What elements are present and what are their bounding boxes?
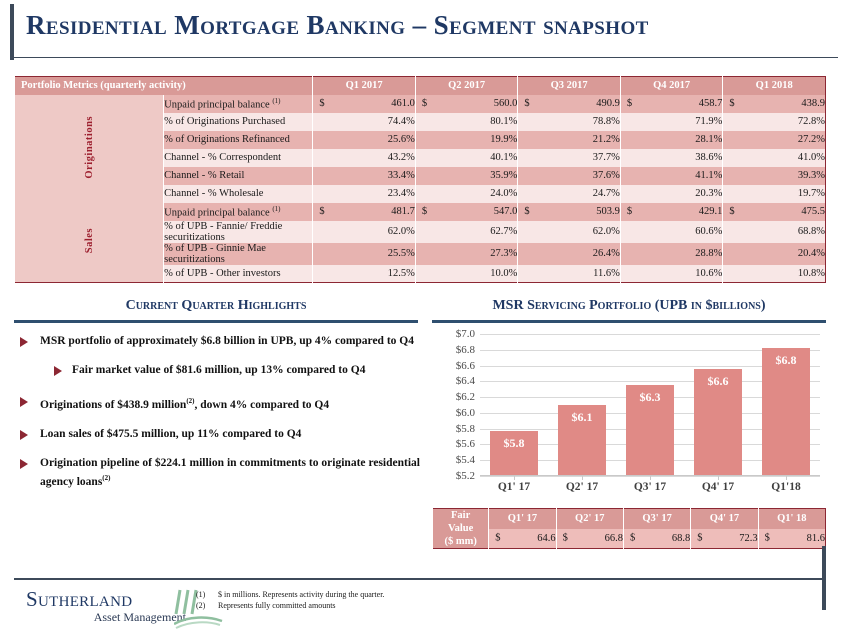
currency-symbol: $ xyxy=(495,533,500,544)
currency-symbol: $ xyxy=(319,206,324,217)
group-label-originations: Originations xyxy=(15,95,164,203)
metric-value: 33.4% xyxy=(313,167,416,185)
title-bar: Residential Mortgage Banking – Segment s… xyxy=(0,0,841,62)
chart-bar: $6.3 xyxy=(626,385,674,476)
currency-symbol: $ xyxy=(422,206,427,217)
fair-value-cell: $81.6 xyxy=(758,529,825,549)
y-axis-tick-label: $6.4 xyxy=(431,375,475,387)
metric-value: 19.7% xyxy=(723,185,826,203)
bar-value-label: $6.8 xyxy=(776,353,797,368)
chart-bar-slot: $6.6Q4' 17 xyxy=(684,334,752,476)
currency-symbol: $ xyxy=(729,206,734,217)
highlights-heading: Current Quarter Highlights xyxy=(14,298,418,314)
metric-value: 62.0% xyxy=(518,221,621,243)
column-header-5: Q1 2018 xyxy=(723,77,826,95)
column-header-1: Q1 2017 xyxy=(313,77,416,95)
fair-value-column-header-1: Q1' 17 xyxy=(489,509,556,529)
y-axis-tick-label: $5.8 xyxy=(431,423,475,435)
highlight-text: Loan sales of $475.5 million, up 11% com… xyxy=(40,428,301,440)
metric-value: 11.6% xyxy=(518,265,621,283)
metric-value: 25.5% xyxy=(313,243,416,265)
currency-symbol: $ xyxy=(627,206,632,217)
metric-value: $490.9 xyxy=(518,95,621,113)
metric-value: $503.9 xyxy=(518,203,621,221)
fair-value-column-header-3: Q3' 17 xyxy=(623,509,690,529)
chart-x-axis xyxy=(480,475,820,476)
metric-value: 62.7% xyxy=(415,221,518,243)
metric-value: $429.1 xyxy=(620,203,723,221)
x-axis-tick-label: Q1'18 xyxy=(771,481,800,493)
metric-value: 80.1% xyxy=(415,113,518,131)
column-header-3: Q3 2017 xyxy=(518,77,621,95)
metric-value: 40.1% xyxy=(415,149,518,167)
chart-bar: $6.6 xyxy=(694,369,742,476)
company-logo: Sutherland Asset Management xyxy=(26,588,216,624)
metric-value: 41.0% xyxy=(723,149,826,167)
page-title: Residential Mortgage Banking – Segment s… xyxy=(26,10,649,41)
metric-value: $438.9 xyxy=(723,95,826,113)
currency-symbol: $ xyxy=(697,533,702,544)
footnote-text: $ in millions. Represents activity durin… xyxy=(218,589,384,600)
metric-value: 20.3% xyxy=(620,185,723,203)
x-axis-tick-label: Q1' 17 xyxy=(498,481,530,493)
metric-value: 25.6% xyxy=(313,131,416,149)
bar-value-label: $6.6 xyxy=(708,374,729,389)
y-axis-tick-label: $5.4 xyxy=(431,454,475,466)
y-axis-tick-label: $6.2 xyxy=(431,391,475,403)
metrics-table-caption: Portfolio Metrics (quarterly activity) xyxy=(15,77,313,95)
metric-value: 28.8% xyxy=(620,243,723,265)
metric-value: $458.7 xyxy=(620,95,723,113)
currency-symbol: $ xyxy=(630,533,635,544)
y-axis-tick-label: $6.6 xyxy=(431,360,475,372)
footnote-marker: (2) xyxy=(186,397,194,405)
triangle-bullet-icon xyxy=(20,430,28,440)
fair-value-header-row: FairValue($ mm)Q1' 17Q2' 17Q3' 17Q4' 17Q… xyxy=(433,509,826,529)
metric-value: $475.5 xyxy=(723,203,826,221)
metric-value: 38.6% xyxy=(620,149,723,167)
triangle-bullet-icon xyxy=(20,337,28,347)
highlight-text: Originations of $438.9 million xyxy=(40,399,186,411)
metric-value: 10.0% xyxy=(415,265,518,283)
chart-plot-area: $5.2$5.4$5.6$5.8$6.0$6.2$6.4$6.6$6.8$7.0… xyxy=(480,334,820,476)
bar-value-label: $6.3 xyxy=(640,390,661,405)
metric-value: 27.3% xyxy=(415,243,518,265)
metric-value: 21.2% xyxy=(518,131,621,149)
highlight-text: Fair market value of $81.6 million, up 1… xyxy=(72,364,365,376)
metric-value: 19.9% xyxy=(415,131,518,149)
metric-value: 43.2% xyxy=(313,149,416,167)
x-axis-tick xyxy=(582,476,583,480)
metric-label: % of UPB - Ginnie Mae securitizations xyxy=(164,243,313,265)
bar-value-label: $6.1 xyxy=(572,410,593,425)
chart-bar: $6.8 xyxy=(762,348,810,476)
table-row: OriginationsUnpaid principal balance (1)… xyxy=(15,95,826,113)
metric-label: % of UPB - Fannie/ Freddie securitizatio… xyxy=(164,221,313,243)
metric-label: % of Originations Refinanced xyxy=(164,131,313,149)
metric-label: % of Originations Purchased xyxy=(164,113,313,131)
metric-label: Channel - % Wholesale xyxy=(164,185,313,203)
fair-value-cell: $68.8 xyxy=(623,529,690,549)
currency-symbol: $ xyxy=(765,533,770,544)
x-axis-tick xyxy=(786,476,787,480)
metric-label: Unpaid principal balance (1) xyxy=(164,95,313,113)
footnote-text: Represents fully committed amounts xyxy=(218,600,336,611)
triangle-bullet-icon xyxy=(54,366,62,376)
chart-bar-slot: $6.1Q2' 17 xyxy=(548,334,616,476)
triangle-bullet-icon xyxy=(20,397,28,407)
metric-value: 23.4% xyxy=(313,185,416,203)
chart-bar-slot: $6.3Q3' 17 xyxy=(616,334,684,476)
fair-value-column-header-2: Q2' 17 xyxy=(556,509,623,529)
msr-heading: MSR Servicing Portfolio (UPB in $billion… xyxy=(432,298,826,314)
highlights-list: MSR portfolio of approximately $6.8 bill… xyxy=(16,334,420,504)
footnotes: (1)$ in millions. Represents activity du… xyxy=(196,589,596,611)
metric-value: $481.7 xyxy=(313,203,416,221)
metric-value: 74.4% xyxy=(313,113,416,131)
fair-value-table: FairValue($ mm)Q1' 17Q2' 17Q3' 17Q4' 17Q… xyxy=(432,508,826,549)
chart-bars: $5.8Q1' 17$6.1Q2' 17$6.3Q3' 17$6.6Q4' 17… xyxy=(480,334,820,476)
footnote-marker: (1) xyxy=(272,97,280,105)
chart-bar: $6.1 xyxy=(558,405,606,476)
chart-bar-slot: $6.8Q1'18 xyxy=(752,334,820,476)
highlight-bullet: MSR portfolio of approximately $6.8 bill… xyxy=(16,334,420,349)
metric-value: 28.1% xyxy=(620,131,723,149)
metric-value: 37.7% xyxy=(518,149,621,167)
metric-value: $461.0 xyxy=(313,95,416,113)
x-axis-tick xyxy=(718,476,719,480)
chart-bar: $5.8 xyxy=(490,431,538,476)
fair-value-value-row: $64.6$66.8$68.8$72.3$81.6 xyxy=(433,529,826,549)
logo-tagline: Asset Management xyxy=(26,610,186,624)
x-axis-tick xyxy=(514,476,515,480)
footer-accent-bar xyxy=(822,546,826,610)
highlight-bullet: Loan sales of $475.5 million, up 11% com… xyxy=(16,427,420,442)
footnote-marker: (2) xyxy=(102,474,110,482)
title-divider xyxy=(10,57,838,58)
y-axis-tick-label: $5.2 xyxy=(431,470,475,482)
x-axis-tick-label: Q4' 17 xyxy=(702,481,734,493)
fair-value-label-line: Fair xyxy=(433,509,488,522)
metric-value: $547.0 xyxy=(415,203,518,221)
metric-value: 10.8% xyxy=(723,265,826,283)
highlight-text: MSR portfolio of approximately $6.8 bill… xyxy=(40,335,414,347)
metric-value: 24.7% xyxy=(518,185,621,203)
footnote-row: (1)$ in millions. Represents activity du… xyxy=(196,589,596,600)
metric-value: $560.0 xyxy=(415,95,518,113)
triangle-bullet-icon xyxy=(20,459,28,469)
footnote-row: (2)Represents fully committed amounts xyxy=(196,600,596,611)
y-axis-tick-label: $7.0 xyxy=(431,328,475,340)
footer-divider xyxy=(14,578,826,580)
metric-value: 78.8% xyxy=(518,113,621,131)
chart-bar-slot: $5.8Q1' 17 xyxy=(480,334,548,476)
x-axis-tick-label: Q3' 17 xyxy=(634,481,666,493)
metric-label: Channel - % Correspondent xyxy=(164,149,313,167)
fair-value-column-header-4: Q4' 17 xyxy=(691,509,758,529)
metric-value: 62.0% xyxy=(313,221,416,243)
currency-symbol: $ xyxy=(563,533,568,544)
highlights-heading-rule xyxy=(14,320,418,323)
metric-value: 12.5% xyxy=(313,265,416,283)
group-label-sales: Sales xyxy=(15,203,164,283)
highlight-bullet: Origination pipeline of $224.1 million i… xyxy=(16,456,420,490)
metric-value: 68.8% xyxy=(723,221,826,243)
fair-value-cell: $72.3 xyxy=(691,529,758,549)
msr-heading-rule xyxy=(432,320,826,323)
highlight-text-tail: , down 4% compared to Q4 xyxy=(195,399,330,411)
msr-servicing-portfolio-chart: $5.2$5.4$5.6$5.8$6.0$6.2$6.4$6.6$6.8$7.0… xyxy=(432,330,826,502)
metric-value: 24.0% xyxy=(415,185,518,203)
currency-symbol: $ xyxy=(422,98,427,109)
y-axis-tick-label: $6.0 xyxy=(431,407,475,419)
fair-value-label-line: Value xyxy=(433,522,488,535)
y-axis-tick-label: $5.6 xyxy=(431,438,475,450)
highlight-bullet: Fair market value of $81.6 million, up 1… xyxy=(16,363,420,378)
metric-value: 35.9% xyxy=(415,167,518,185)
metric-label: % of UPB - Other investors xyxy=(164,265,313,283)
metric-value: 26.4% xyxy=(518,243,621,265)
metric-value: 27.2% xyxy=(723,131,826,149)
currency-symbol: $ xyxy=(524,98,529,109)
title-accent-bar xyxy=(10,4,14,60)
fair-value-cell: $66.8 xyxy=(556,529,623,549)
metric-value: 72.8% xyxy=(723,113,826,131)
fair-value-label-line: ($ mm) xyxy=(433,535,488,548)
table-row: SalesUnpaid principal balance (1)$481.7$… xyxy=(15,203,826,221)
metric-value: 10.6% xyxy=(620,265,723,283)
x-axis-tick-label: Q2' 17 xyxy=(566,481,598,493)
footnote-number: (1) xyxy=(196,589,218,600)
x-axis-tick xyxy=(650,476,651,480)
bar-value-label: $5.8 xyxy=(504,436,525,451)
highlight-bullet: Originations of $438.9 million(2), down … xyxy=(16,394,420,413)
currency-symbol: $ xyxy=(319,98,324,109)
portfolio-metrics-table: Portfolio Metrics (quarterly activity)Q1… xyxy=(14,76,826,283)
currency-symbol: $ xyxy=(729,98,734,109)
fair-value-cell: $64.6 xyxy=(489,529,556,549)
fair-value-column-header-5: Q1' 18 xyxy=(758,509,825,529)
metric-value: 20.4% xyxy=(723,243,826,265)
currency-symbol: $ xyxy=(524,206,529,217)
y-axis-tick-label: $6.8 xyxy=(431,344,475,356)
column-header-2: Q2 2017 xyxy=(415,77,518,95)
metric-label: Channel - % Retail xyxy=(164,167,313,185)
footnote-marker: (1) xyxy=(272,205,280,213)
metric-value: 39.3% xyxy=(723,167,826,185)
metric-value: 60.6% xyxy=(620,221,723,243)
metrics-header-row: Portfolio Metrics (quarterly activity)Q1… xyxy=(15,77,826,95)
column-header-4: Q4 2017 xyxy=(620,77,723,95)
metric-value: 71.9% xyxy=(620,113,723,131)
metric-label: Unpaid principal balance (1) xyxy=(164,203,313,221)
fair-value-row-label: FairValue($ mm) xyxy=(433,509,489,549)
highlight-text: Origination pipeline of $224.1 million i… xyxy=(40,457,420,488)
currency-symbol: $ xyxy=(627,98,632,109)
footnote-number: (2) xyxy=(196,600,218,611)
metric-value: 37.6% xyxy=(518,167,621,185)
metric-value: 41.1% xyxy=(620,167,723,185)
